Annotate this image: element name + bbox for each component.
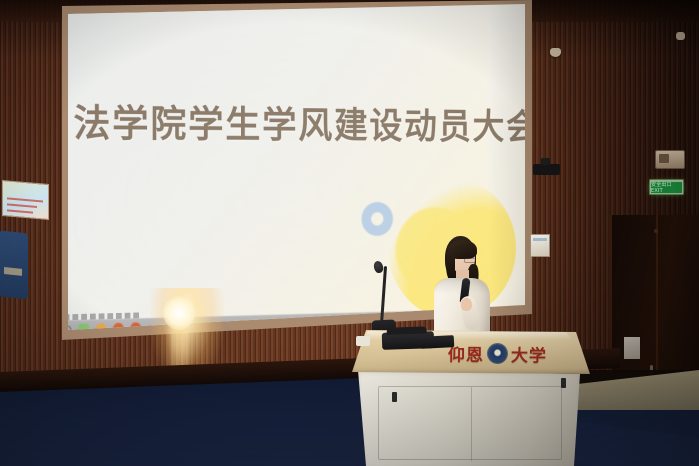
podium-latch-right[interactable]	[561, 378, 566, 388]
lectern-podium: 仰恩 大学	[352, 330, 590, 466]
podium-latch-left[interactable]	[392, 392, 397, 402]
podium-text-right: 大学	[511, 341, 547, 366]
hand	[461, 298, 472, 311]
ceiling-fixture-icon	[550, 48, 561, 57]
blue-ring-icon	[361, 202, 392, 236]
slide-title: 法学院学生学风建设动员大会	[73, 104, 481, 146]
lecture-hall-photo: 法学院学生学风建设动员大会 安全出口 EXIT	[0, 0, 699, 466]
exit-sign-icon: 安全出口 EXIT	[651, 182, 682, 193]
podium-body	[358, 370, 580, 466]
podium-panel-split	[471, 387, 472, 461]
podium-front-panel	[378, 386, 562, 460]
wall-notice-card	[530, 234, 550, 257]
wall-speaker-box	[655, 150, 685, 169]
camera-bracket-icon	[533, 164, 560, 175]
wall-poster	[2, 180, 49, 220]
university-seal-emblem-icon	[488, 344, 507, 363]
glasses-icon	[464, 258, 476, 263]
podium-university-nameplate: 仰恩 大学	[448, 340, 547, 366]
blue-panel-label	[4, 267, 22, 276]
wall-blue-panel	[0, 231, 28, 300]
hair-side	[446, 250, 455, 280]
desk-small-object	[356, 336, 370, 346]
emergency-exit-sign: 安全出口 EXIT	[649, 179, 684, 195]
exit-sign-label: 安全出口 EXIT	[651, 181, 682, 194]
ceiling-fixture-icon-2	[676, 32, 685, 40]
door-notice-paper	[624, 337, 640, 359]
wall-lamp-icon	[163, 296, 195, 330]
door-top-fitting	[654, 229, 658, 233]
desk-telephone-unit[interactable]	[420, 335, 455, 349]
